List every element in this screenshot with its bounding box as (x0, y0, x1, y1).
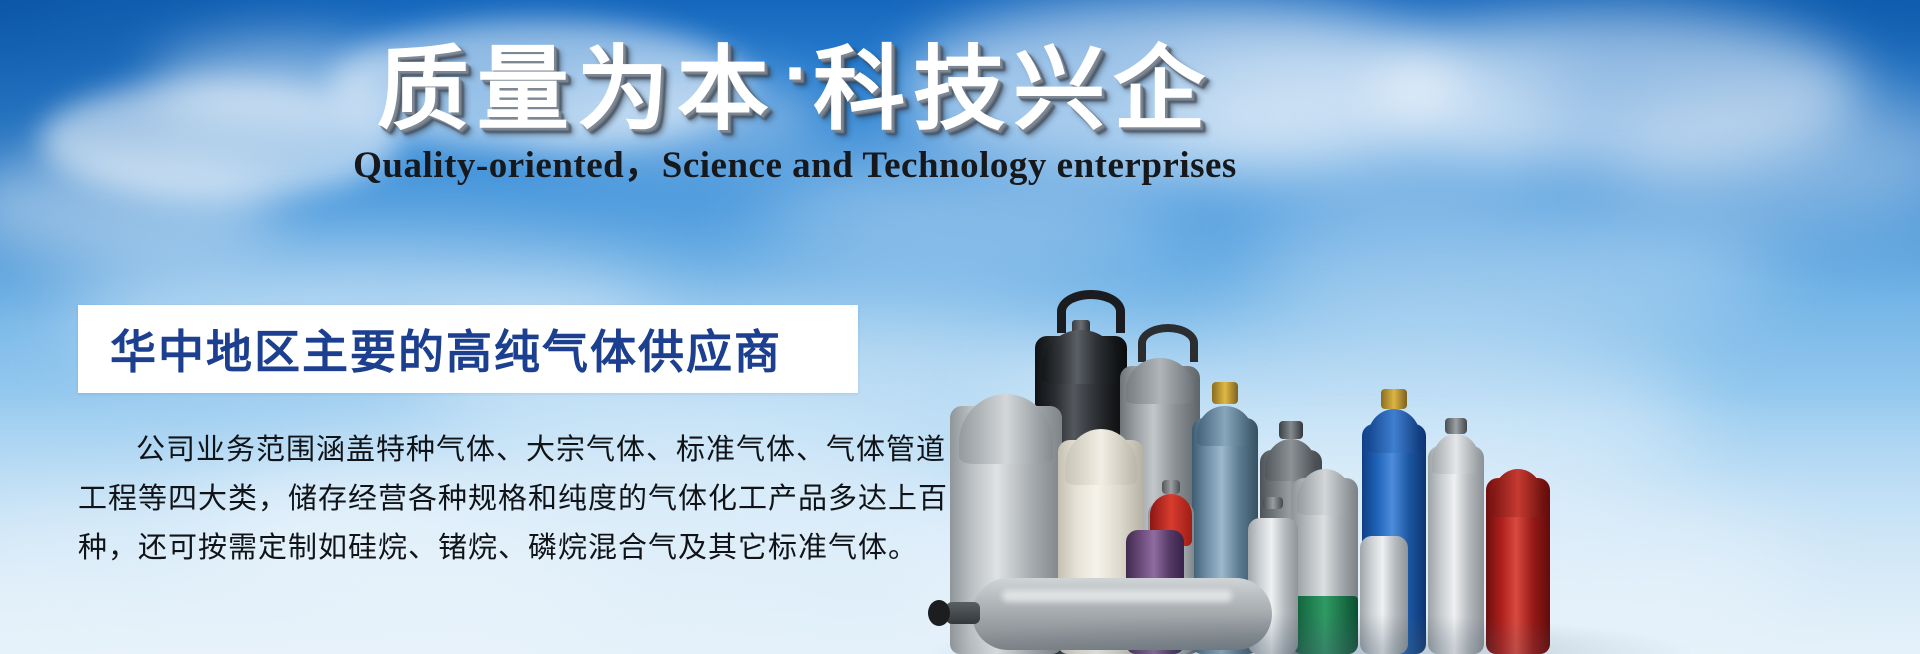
cylinder-shoulder (1126, 358, 1193, 404)
cylinder-shoulder (959, 394, 1053, 464)
headline-part-2: 科技兴企 (813, 15, 1213, 148)
company-description: 公司业务范围涵盖特种气体、大宗气体、标准气体、气体管道 工程等四大类，储存经营各… (78, 426, 868, 573)
cylinder-valve (1279, 421, 1304, 439)
promo-banner: 质量为本 · 科技兴企 Quality-oriented，Science and… (0, 0, 1920, 654)
cylinder-shoulder (1491, 469, 1545, 517)
cylinder-valve (1162, 480, 1180, 494)
cylinder-shoulder (1252, 509, 1294, 543)
cylinder-shoulder (1367, 409, 1421, 453)
cylinder-shoulder (1197, 406, 1252, 446)
cylinder-shoulder (1065, 429, 1137, 485)
description-line-3: 种，还可按需定制如硅烷、锗烷、磷烷混合气及其它标准气体。 (78, 524, 868, 573)
cylinder-handle (1057, 290, 1125, 333)
cylinder-handle (1138, 324, 1198, 362)
headline-part-1: 质量为本 (377, 15, 777, 148)
photo-ground-shadow (930, 614, 1690, 654)
description-line-2: 工程等四大类，储存经营各种规格和纯度的气体化工产品多达上百 (78, 475, 868, 524)
highlight-banner-text: 华中地区主要的高纯气体供应商 (78, 316, 782, 382)
cylinder-valve (1381, 389, 1407, 409)
description-line-1: 公司业务范围涵盖特种气体、大宗气体、标准气体、气体管道 (78, 426, 868, 475)
highlight-banner-box: 华中地区主要的高纯气体供应商 (78, 305, 858, 393)
cylinder-valve (1212, 382, 1238, 404)
gas-cylinders-photo (930, 150, 1920, 654)
headline-separator: · (777, 38, 813, 112)
cylinder-shoulder (1297, 469, 1352, 515)
cylinder-shoulder (1432, 434, 1479, 474)
banner-headline: 质量为本 · 科技兴企 (330, 22, 1260, 140)
cylinder-valve (1445, 418, 1467, 434)
cylinder-valve (1263, 497, 1283, 509)
horizontal-cylinder-highlight (1002, 590, 1232, 602)
